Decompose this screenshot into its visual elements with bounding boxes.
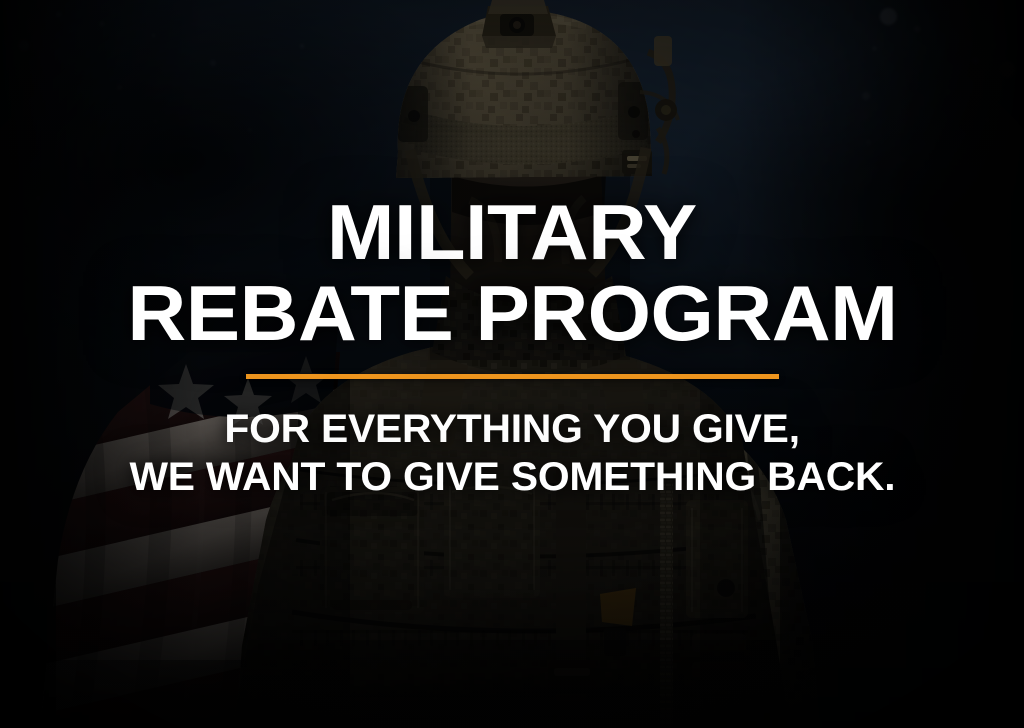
- military-rebate-banner: MILITARY REBATE PROGRAM FOR EVERYTHING Y…: [0, 0, 1024, 728]
- banner-copy: MILITARY REBATE PROGRAM FOR EVERYTHING Y…: [0, 0, 1024, 728]
- subheading-line-1: FOR EVERYTHING YOU GIVE,: [224, 406, 799, 452]
- subheading-line-2: WE WANT TO GIVE SOMETHING BACK.: [129, 454, 895, 500]
- orange-divider-rule: [246, 374, 779, 379]
- headline-line-1: MILITARY: [327, 196, 697, 269]
- headline-line-2: REBATE PROGRAM: [127, 277, 897, 350]
